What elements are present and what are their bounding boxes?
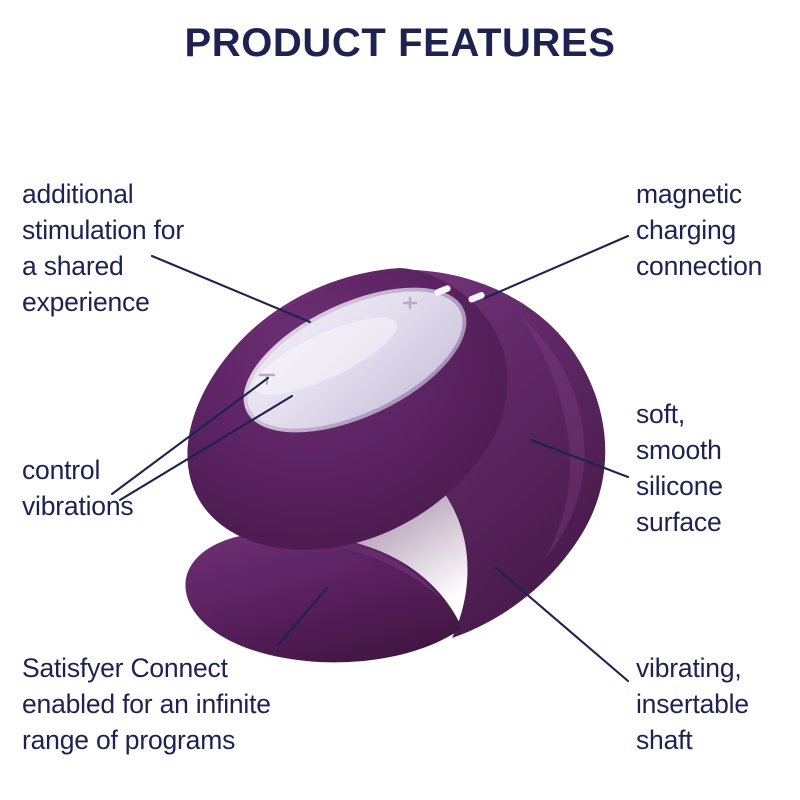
product-features-infographic: PRODUCT FEATURES: [0, 0, 800, 800]
leader-magnetic-charging: [485, 236, 628, 298]
leader-satisfyer-connect: [278, 588, 327, 645]
leader-control-vibrations-a: [112, 378, 268, 494]
leader-additional-stimulation: [152, 256, 310, 322]
leader-control-vibrations-b: [120, 396, 292, 500]
leader-lines: [0, 0, 800, 800]
leader-vibrating-shaft: [496, 568, 628, 681]
leader-soft-silicone: [531, 440, 628, 477]
